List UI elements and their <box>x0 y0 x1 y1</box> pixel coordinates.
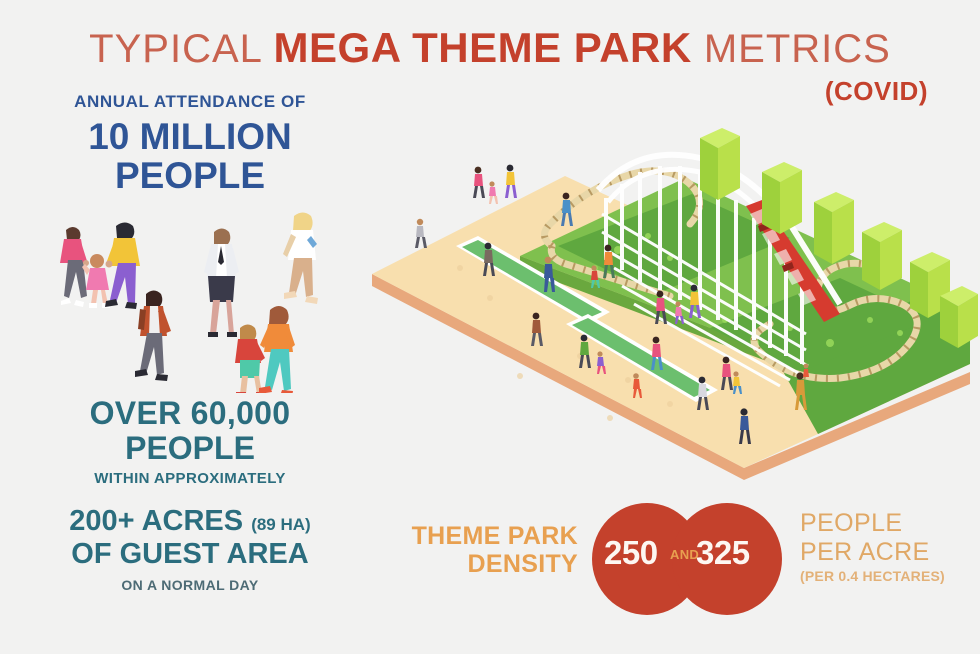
figure-businesswoman <box>204 229 239 338</box>
attendance-stat: ANNUAL ATTENDANCE OF 10 MILLION PEOPLE <box>0 92 380 196</box>
area-hectares-value: (89 HA) <box>251 515 311 534</box>
area-acres-value: 200+ ACRES <box>69 505 243 537</box>
tree-column <box>700 128 740 200</box>
figure-boy-red-shirt <box>235 325 266 394</box>
tree-column <box>762 162 802 234</box>
density-unit-line2: PER ACRE <box>800 538 980 567</box>
area-descriptor: OF GUEST AREA <box>0 538 380 571</box>
title-word-metrics: METRICS <box>692 27 891 71</box>
infographic-canvas: TYPICAL MEGA THEME PARK METRICS (COVID) … <box>0 0 980 654</box>
figure-blonde-woman <box>283 213 318 305</box>
density-value-high: 325 <box>696 534 750 572</box>
density-unit-line1: PEOPLE <box>800 509 980 538</box>
density-unit-footnote: (PER 0.4 HECTARES) <box>800 568 980 584</box>
figure-man-yellow-shirt <box>105 223 140 310</box>
title-main-line: TYPICAL MEGA THEME PARK METRICS <box>0 24 980 72</box>
density-label-line2: DENSITY <box>378 550 578 578</box>
title-words-mega-theme-park: MEGA THEME PARK <box>274 24 692 71</box>
capacity-qualifier: WITHIN APPROXIMATELY <box>0 470 380 487</box>
guest-figure <box>415 219 427 248</box>
density-value-low: 250 <box>604 534 658 572</box>
area-acres-line: 200+ ACRES (89 HA) <box>0 505 380 538</box>
isometric-theme-park-scene <box>370 128 980 480</box>
attendance-label: ANNUAL ATTENDANCE OF <box>0 92 380 112</box>
guest-figure <box>505 165 517 198</box>
attendance-number: 10 MILLION <box>0 118 380 157</box>
attendance-unit: PEOPLE <box>0 157 380 196</box>
tree-column <box>862 222 902 290</box>
tree-column <box>814 192 854 264</box>
capacity-number: OVER 60,000 <box>0 396 380 431</box>
density-conjunction: AND <box>670 547 699 562</box>
guest-figure <box>489 181 498 204</box>
title-word-typical: TYPICAL <box>89 27 273 71</box>
page-title: TYPICAL MEGA THEME PARK METRICS <box>0 24 980 72</box>
capacity-unit: PEOPLE <box>0 431 380 466</box>
area-stat: 200+ ACRES (89 HA) OF GUEST AREA ON A NO… <box>0 505 380 593</box>
density-label: THEME PARK DENSITY <box>378 522 578 578</box>
density-label-line1: THEME PARK <box>378 522 578 550</box>
title-subtitle-covid: (COVID) <box>825 76 928 107</box>
walking-guests-illustration <box>30 208 370 393</box>
guest-figure <box>473 167 485 198</box>
figure-woman-orange-top <box>259 306 295 393</box>
density-unit-label: PEOPLE PER ACRE (PER 0.4 HECTARES) <box>800 509 980 584</box>
guest-figure <box>803 364 809 377</box>
tree-column <box>940 286 978 348</box>
density-value-circles: 250 AND 325 <box>592 503 782 615</box>
area-footnote: ON A NORMAL DAY <box>0 577 380 593</box>
capacity-stat: OVER 60,000 PEOPLE WITHIN APPROXIMATELY <box>0 396 380 487</box>
figure-woman-backpack <box>135 291 171 382</box>
